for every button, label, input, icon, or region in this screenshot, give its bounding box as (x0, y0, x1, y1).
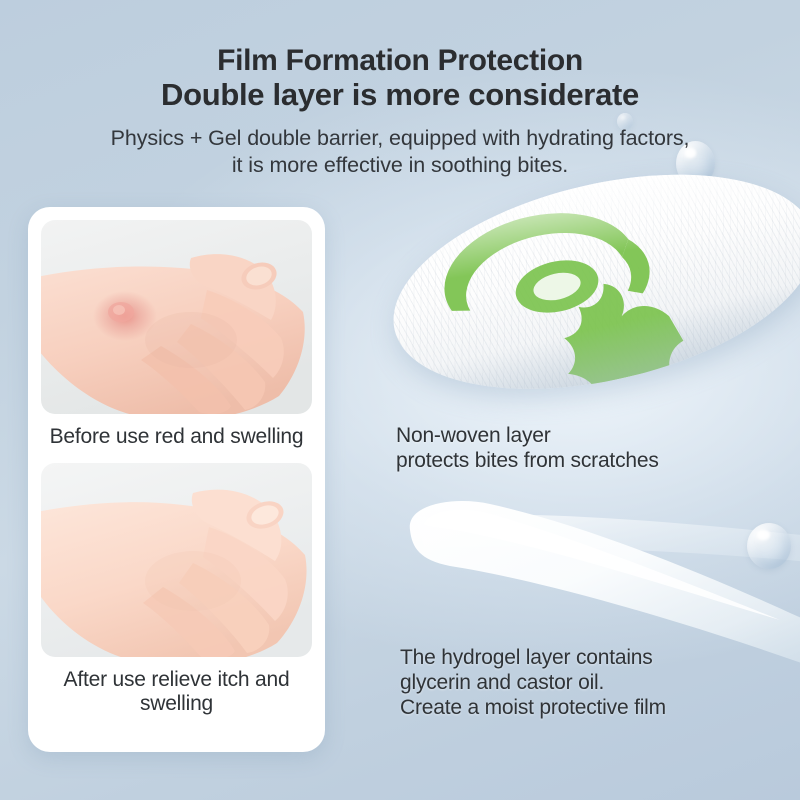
after-use-photo (41, 463, 312, 657)
before-use-caption: Before use red and swelling (41, 425, 312, 450)
before-after-card: Before use red and swelling (28, 207, 325, 752)
nonwoven-annotation: Non-woven layer protects bites from scra… (396, 423, 659, 473)
hydrogel-annotation-line-2: glycerin and castor oil. (400, 670, 666, 695)
before-caption-line-1: Before use red (50, 425, 185, 448)
page-subtitle: Physics + Gel double barrier, equipped w… (0, 125, 800, 178)
page-subtitle-line-2: it is more effective in soothing bites. (232, 153, 568, 177)
hydrogel-annotation-line-3: Create a moist protective film (400, 695, 666, 720)
after-use-caption: After use relieve itch and swelling (41, 668, 312, 717)
poster-header: Film Formation Protection Double layer i… (0, 44, 800, 178)
page-title-line-1: Film Formation Protection (0, 44, 800, 78)
page-title-line-2: Double layer is more considerate (0, 78, 800, 113)
before-caption-line-2: and swelling (190, 425, 303, 448)
before-use-photo (41, 220, 312, 414)
product-feature-poster: Film Formation Protection Double layer i… (0, 0, 800, 800)
after-photo-art (41, 463, 312, 657)
hydrogel-strip-shape (380, 470, 800, 670)
nonwoven-annotation-line-1: Non-woven layer (396, 423, 659, 448)
nonwoven-patch-image (398, 222, 800, 437)
water-droplet-icon (747, 523, 791, 569)
hydrogel-annotation-line-1: The hydrogel layer contains (400, 645, 666, 670)
before-photo-art (41, 220, 312, 414)
patch-shading (373, 138, 800, 426)
after-caption-line-1: After use relieve (64, 668, 212, 691)
hydrogel-annotation: The hydrogel layer contains glycerin and… (400, 645, 666, 721)
nonwoven-annotation-line-2: protects bites from scratches (396, 448, 659, 473)
hydrogel-strip-image (380, 470, 800, 670)
nonwoven-patch-body (373, 138, 800, 426)
page-subtitle-line-1: Physics + Gel double barrier, equipped w… (111, 126, 690, 150)
